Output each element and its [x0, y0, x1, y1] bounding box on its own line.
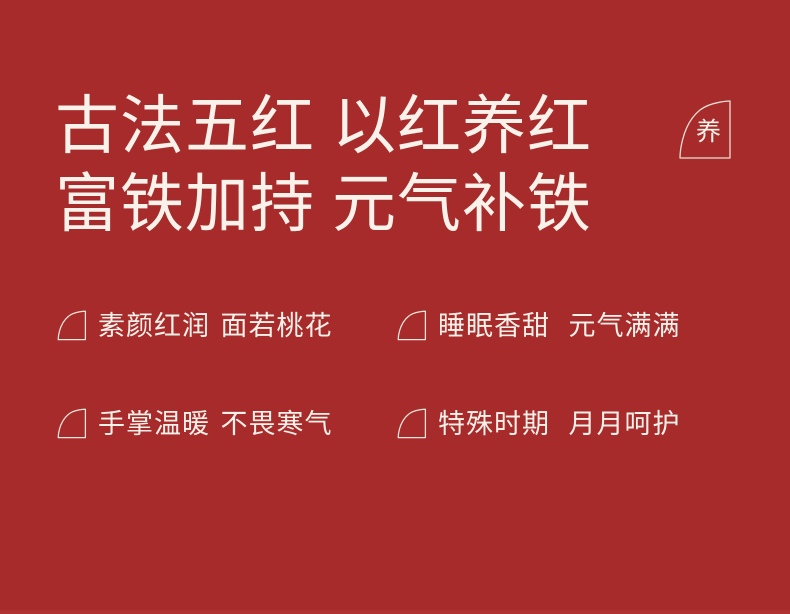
feature-item-1: 睡眠香甜 元气满满	[340, 305, 730, 347]
fan-bullet-icon	[57, 310, 87, 341]
feature-row: 素颜红润 面若桃花 睡眠香甜 元气满满	[0, 305, 790, 347]
feature-line-1: 睡眠香甜	[438, 311, 550, 341]
feature-line-2: 月月呵护	[554, 409, 680, 439]
feature-grid: 素颜红润 面若桃花 睡眠香甜 元气满满	[0, 305, 790, 445]
feature-line-2: 不畏寒气	[214, 409, 332, 439]
feature-item-3: 特殊时期 月月呵护	[340, 403, 730, 445]
badge-character: 养	[678, 100, 732, 160]
feature-row: 手掌温暖 不畏寒气 特殊时期 月月呵护	[0, 403, 790, 445]
feature-line-1: 特殊时期	[438, 409, 550, 439]
feature-text: 睡眠香甜 元气满满	[438, 305, 680, 347]
feature-text: 特殊时期 月月呵护	[438, 403, 680, 445]
fan-bullet-icon	[57, 408, 87, 439]
feature-line-1: 素颜红润	[98, 311, 210, 341]
feature-item-0: 素颜红润 面若桃花	[0, 305, 340, 347]
feature-line-2: 元气满满	[554, 311, 680, 341]
headline-line-2: 富铁加持 元气补铁	[55, 166, 655, 244]
feature-item-2: 手掌温暖 不畏寒气	[0, 403, 340, 445]
bottom-accent-band	[0, 610, 790, 614]
fan-bullet-icon	[397, 408, 427, 439]
fan-bullet-icon	[397, 310, 427, 341]
feature-line-1: 手掌温暖	[98, 409, 210, 439]
nourish-badge: 养	[678, 100, 732, 160]
headline-block: 古法五红 以红养红 富铁加持 元气补铁	[55, 88, 655, 244]
feature-line-2: 面若桃花	[214, 311, 332, 341]
headline-line-1: 古法五红 以红养红	[55, 88, 655, 166]
promo-poster: 古法五红 以红养红 富铁加持 元气补铁 养 素颜红润 面若桃花	[0, 0, 790, 614]
feature-text: 素颜红润 面若桃花	[98, 305, 332, 347]
feature-text: 手掌温暖 不畏寒气	[98, 403, 332, 445]
